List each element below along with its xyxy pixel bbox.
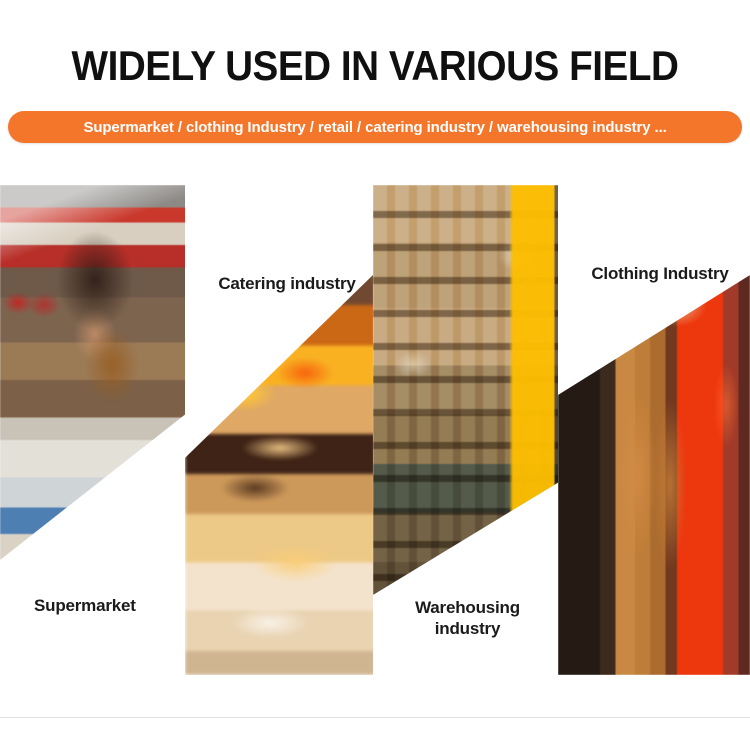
panel-clothing[interactable]: Clothing Industry [558, 185, 750, 675]
panel-label-supermarket: Supermarket [34, 595, 184, 616]
supermarket-photo [0, 185, 186, 560]
panel-label-catering: Catering industry [199, 273, 375, 294]
subtitle-pill-banner: Supermarket / clothing Industry / retail… [8, 111, 742, 143]
panel-supermarket[interactable]: Supermarket [0, 185, 186, 675]
clothing-photo [558, 275, 750, 675]
bottom-divider [0, 717, 750, 718]
panel-label-warehousing: Warehousing industry [380, 597, 555, 639]
panel-warehousing[interactable]: Warehousing industry [373, 185, 562, 675]
warehouse-photo [373, 185, 562, 595]
panel-catering[interactable]: Catering industry [185, 185, 375, 675]
catering-photo [185, 273, 375, 675]
industry-collage: Supermarket Catering industry Warehousin… [0, 170, 750, 715]
header: WIDELY USED IN VARIOUS FIELD Supermarket… [0, 0, 750, 170]
subtitle-text: Supermarket / clothing Industry / retail… [83, 119, 666, 136]
page-title: WIDELY USED IN VARIOUS FIELD [30, 41, 720, 91]
panel-label-clothing: Clothing Industry [576, 263, 744, 284]
